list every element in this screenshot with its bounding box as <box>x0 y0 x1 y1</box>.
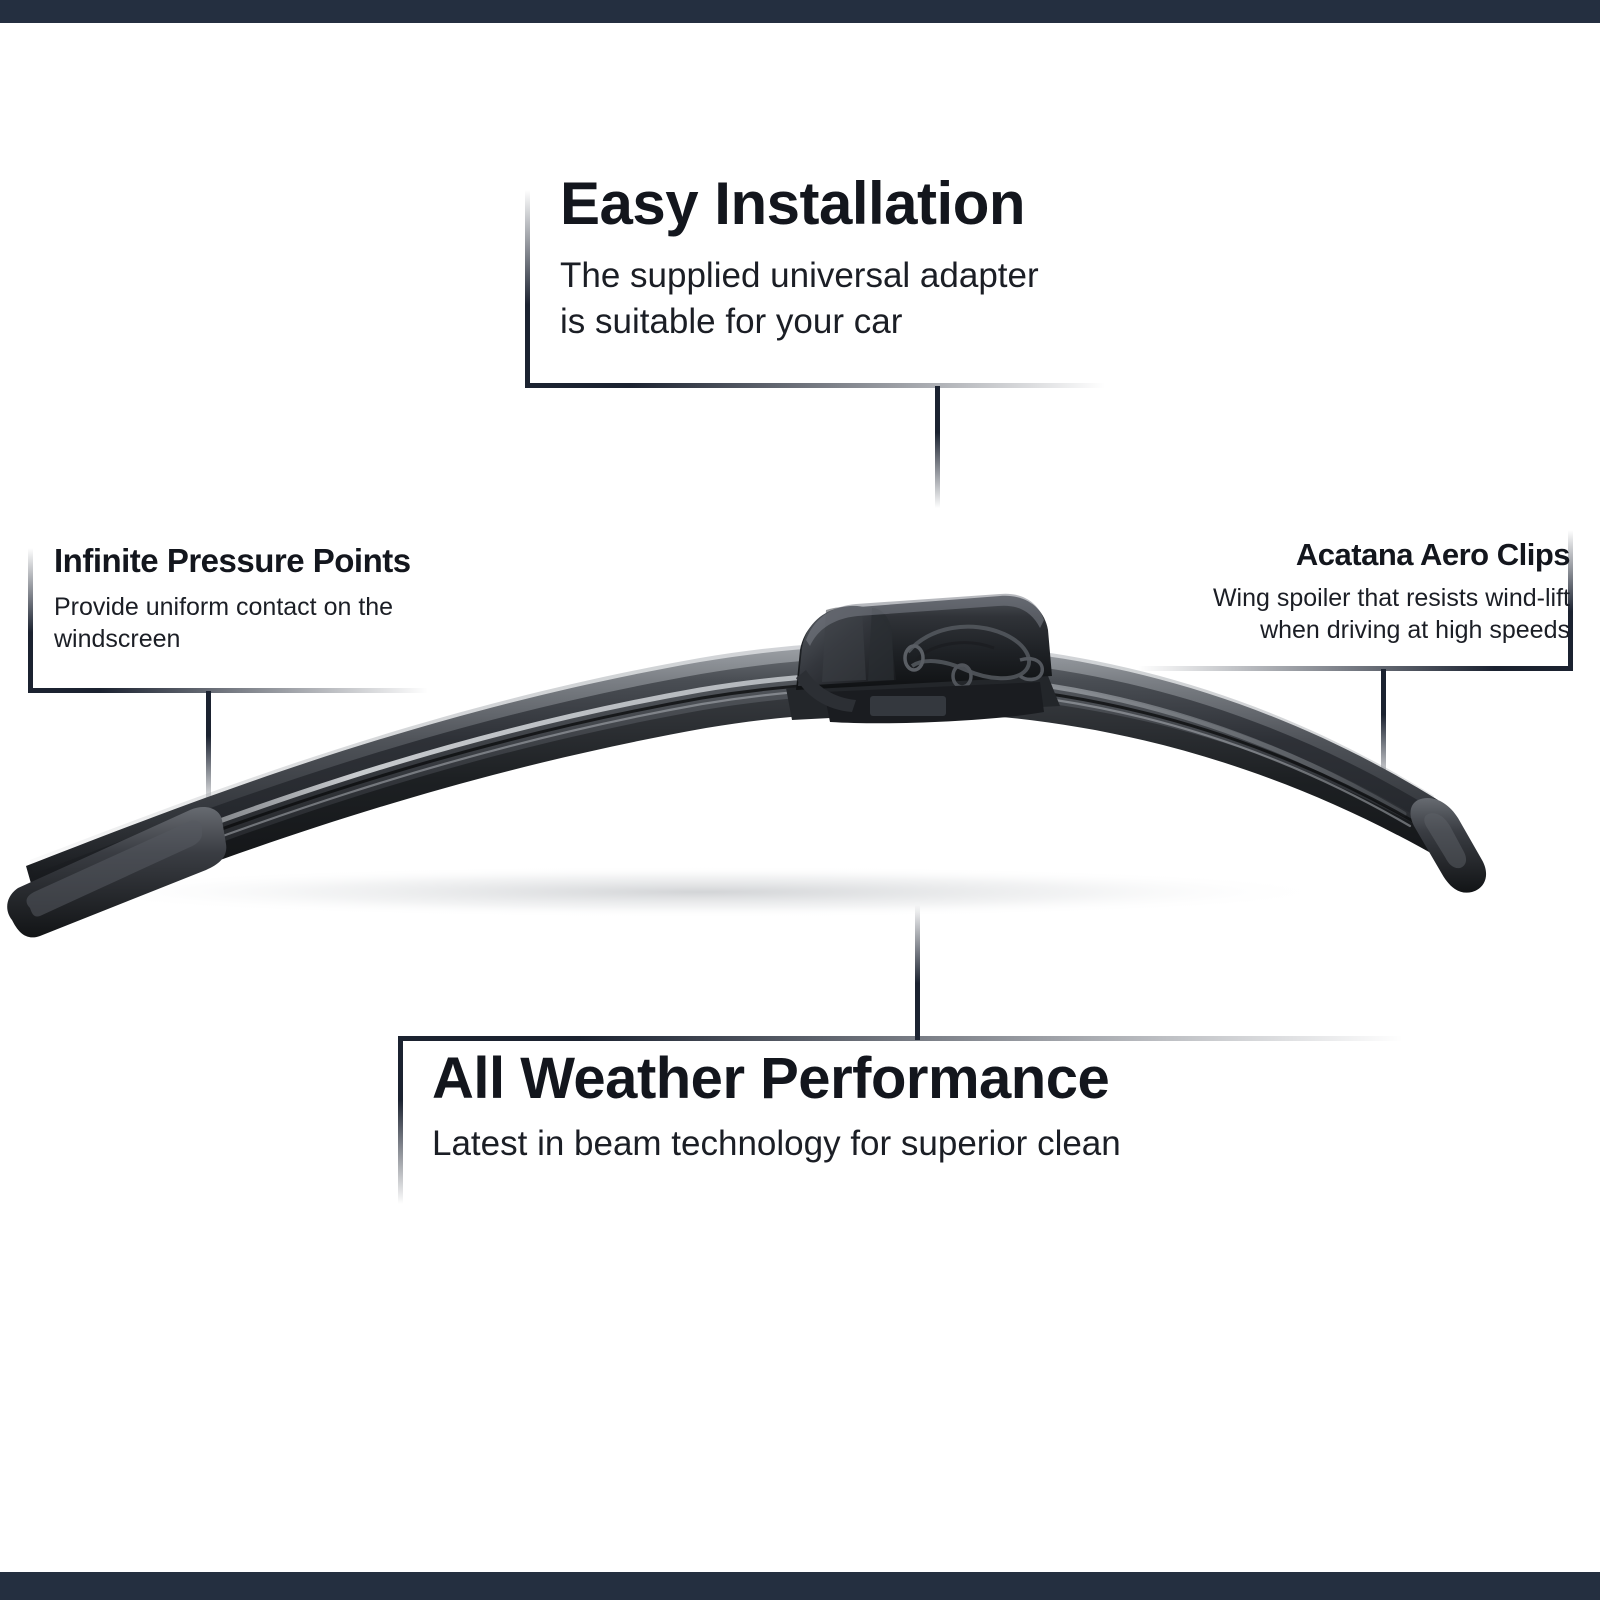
callout-top-title: Easy Installation <box>560 172 1180 235</box>
blade-drop-shadow <box>60 866 1340 918</box>
callout-top-subtitle: The supplied universal adapter is suitab… <box>560 253 1180 344</box>
bottom-accent-bar <box>0 1572 1600 1600</box>
blade-universal-adapter <box>786 594 1060 724</box>
callout-top-subtitle-line1: The supplied universal adapter <box>560 256 1039 295</box>
bottom-callout-bracket-vertical <box>398 1036 403 1204</box>
top-callout-bracket-horizontal <box>525 383 1105 388</box>
top-callout-leader-line <box>935 386 940 508</box>
blade-spoiler-body <box>26 645 1438 894</box>
adapter-lock-window <box>870 696 946 716</box>
callout-easy-installation: Easy Installation The supplied universal… <box>560 172 1180 344</box>
callout-all-weather-performance: All Weather Performance Latest in beam t… <box>432 1047 1332 1165</box>
top-accent-bar <box>0 0 1600 23</box>
top-callout-bracket-vertical <box>525 190 530 388</box>
product-infographic: Easy Installation The supplied universal… <box>0 0 1600 1600</box>
wiper-blade-product-image <box>0 500 1600 970</box>
bottom-callout-bracket-horizontal <box>398 1036 1403 1041</box>
callout-top-subtitle-line2: is suitable for your car <box>560 302 902 341</box>
callout-bottom-subtitle: Latest in beam technology for superior c… <box>432 1123 1332 1165</box>
callout-bottom-title: All Weather Performance <box>432 1047 1332 1111</box>
